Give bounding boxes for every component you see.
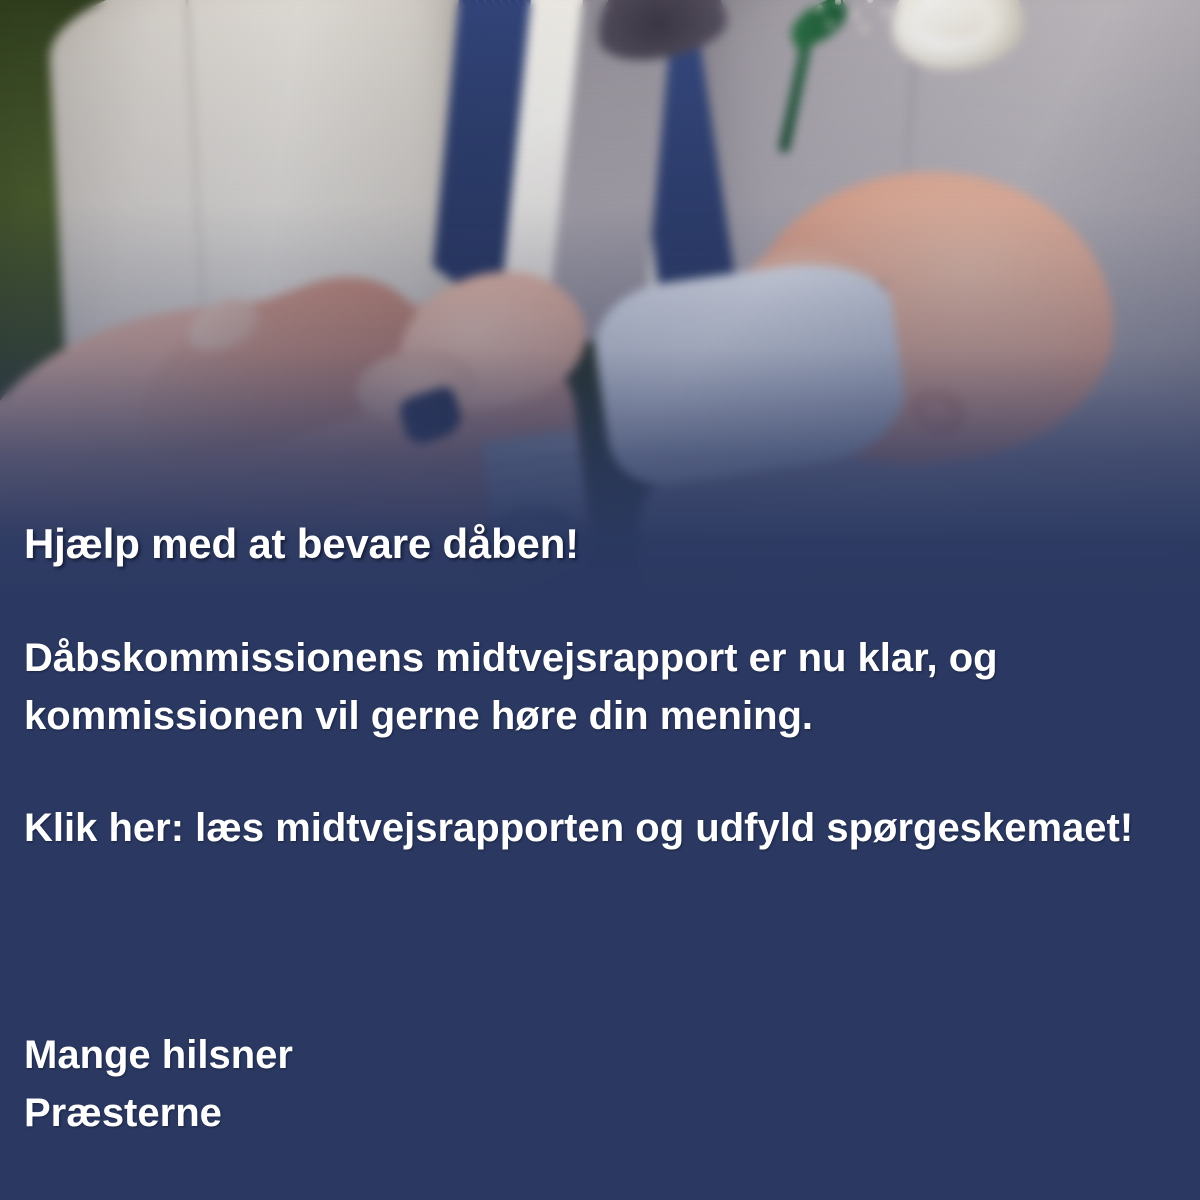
body-text: Dåbskommissionens midtvejsrapport er nu … — [24, 629, 1174, 857]
message-content: Hjælp med at bevare dåben! Dåbskommissio… — [0, 0, 1200, 1200]
headline: Hjælp med at bevare dåben! — [24, 519, 579, 569]
link-description: læs midtvejsrapporten og udfyld spørgesk… — [195, 806, 1133, 850]
signature-sender: Præsterne — [24, 1084, 293, 1142]
link-separator: : — [171, 806, 195, 850]
intro-paragraph: Dåbskommissionens midtvejsrapport er nu … — [24, 629, 1174, 745]
signature-block: Mange hilsner Præsterne — [24, 1026, 293, 1142]
klik-her-link[interactable]: Klik her — [24, 806, 171, 850]
baptism-campaign-poster: Hjælp med at bevare dåben! Dåbskommissio… — [0, 0, 1200, 1200]
call-to-action-paragraph: Klik her: læs midtvejsrapporten og udfyl… — [24, 799, 1174, 857]
signature-closing: Mange hilsner — [24, 1026, 293, 1084]
